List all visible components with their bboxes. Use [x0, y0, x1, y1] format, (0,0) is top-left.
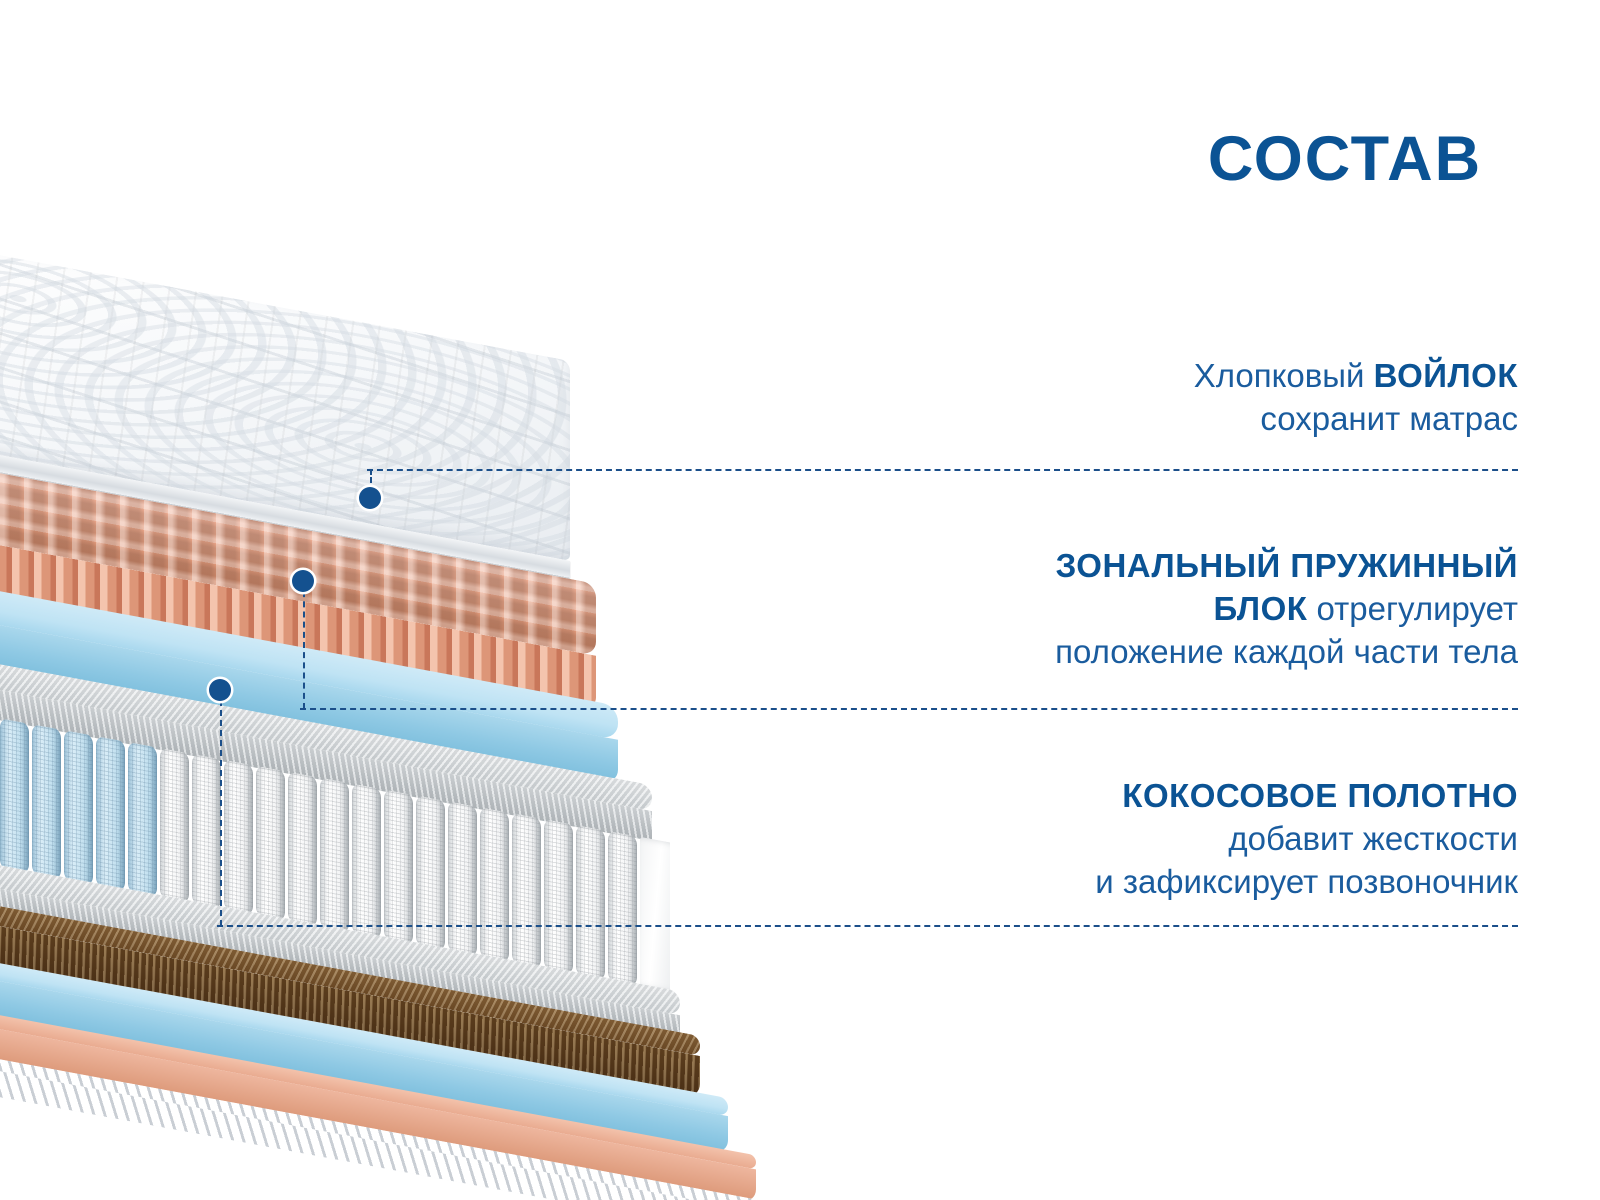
pocket-spring: [224, 760, 253, 915]
pocket-spring: [288, 772, 317, 927]
pocket-spring: [576, 825, 605, 980]
callout-text-normal: и зафиксирует позвоночник: [1095, 863, 1518, 900]
callout-text-normal: добавит жесткости: [1228, 820, 1518, 857]
callout-text-bold: КОКОСОВОЕ ПОЛОТНО: [1122, 777, 1518, 814]
pocket-spring: [96, 736, 125, 891]
pocket-spring: [32, 724, 61, 879]
callout-line: положение каждой части тела: [778, 631, 1518, 674]
pocket-spring: [192, 754, 221, 909]
callout-dot-felt: [359, 487, 381, 509]
pocket-spring: [128, 742, 157, 897]
poster-canvas: СОСТАВ Хлопковый ВОЙЛОК сохранит матрас …: [0, 0, 1600, 1200]
callout-text-normal: положение каждой части тела: [1055, 633, 1518, 670]
callout-line: ЗОНАЛЬНЫЙ ПРУЖИННЫЙ: [778, 545, 1518, 588]
pocket-spring: [384, 789, 413, 944]
callout-line: и зафиксирует позвоночник: [778, 861, 1518, 904]
callout-text-normal: сохранит матрас: [1260, 400, 1518, 437]
callout-coconut-coir: КОКОСОВОЕ ПОЛОТНО добавит жесткости и за…: [778, 775, 1518, 904]
pocket-spring: [256, 766, 285, 921]
leader-line-coir-horizontal: [217, 925, 1518, 927]
pocket-spring: [512, 813, 541, 968]
callout-dot-coir: [209, 679, 231, 701]
pocket-spring: [64, 730, 93, 885]
leader-line-spring-horizontal: [300, 708, 1518, 710]
pocket-spring: [0, 718, 29, 873]
callout-spring-block: ЗОНАЛЬНЫЙ ПРУЖИННЫЙ БЛОК отрегулирует по…: [778, 545, 1518, 674]
pocket-spring: [352, 783, 381, 938]
pocket-spring: [320, 778, 349, 933]
callout-line: Хлопковый ВОЙЛОК: [778, 355, 1518, 398]
pocket-spring: [608, 831, 637, 986]
leader-line-coir-vertical: [220, 690, 222, 926]
pocket-spring: [544, 819, 573, 974]
leader-line-spring-vertical: [303, 581, 305, 709]
callout-line: БЛОК отрегулирует: [778, 588, 1518, 631]
callout-text-bold: ВОЙЛОК: [1374, 357, 1518, 394]
callout-line: добавит жесткости: [778, 818, 1518, 861]
callout-text-normal: Хлопковый: [1194, 357, 1374, 394]
pocket-spring: [416, 795, 445, 950]
pocket-spring: [160, 748, 189, 903]
callout-dot-spring: [292, 570, 314, 592]
callout-text-normal: отрегулирует: [1307, 590, 1518, 627]
leader-line-felt-horizontal: [367, 469, 1518, 471]
callout-line: сохранит матрас: [778, 398, 1518, 441]
callout-line: КОКОСОВОЕ ПОЛОТНО: [778, 775, 1518, 818]
callout-text-bold: ЗОНАЛЬНЫЙ ПРУЖИННЫЙ: [1056, 547, 1518, 584]
pocket-spring: [448, 801, 477, 956]
edge-support-foam: [640, 837, 670, 993]
pocket-spring: [480, 807, 509, 962]
mattress-cutaway-illustration: [0, 215, 880, 835]
callout-cotton-felt: Хлопковый ВОЙЛОК сохранит матрас: [778, 355, 1518, 441]
page-title: СОСТАВ: [1190, 128, 1500, 191]
callout-text-bold: БЛОК: [1214, 590, 1308, 627]
